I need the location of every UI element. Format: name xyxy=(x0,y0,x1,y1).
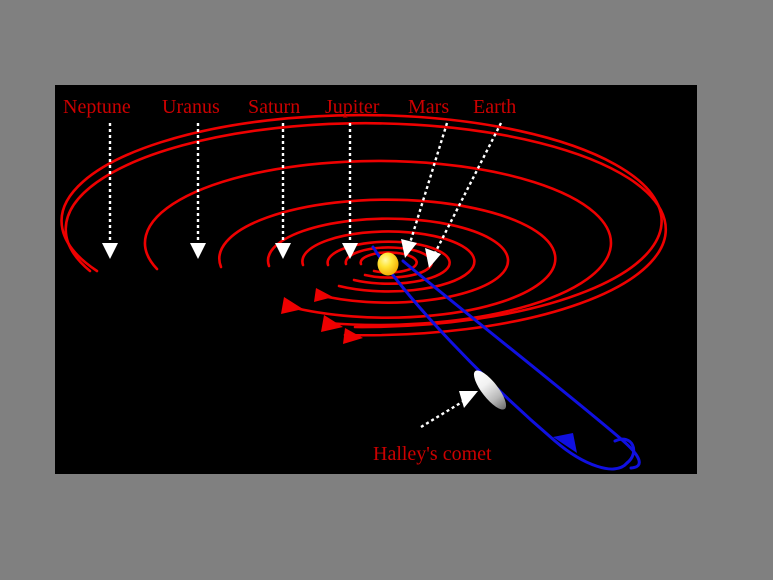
sun xyxy=(378,253,399,276)
halley-comet-body xyxy=(469,366,511,414)
pointer-neptune xyxy=(102,123,118,259)
label-halley-comet: Halley's comet xyxy=(373,443,492,465)
label-jupiter: Jupiter xyxy=(325,96,380,118)
label-mars: Mars xyxy=(408,96,449,118)
orbit-neptune xyxy=(62,115,666,344)
orbit-direction-arrow xyxy=(314,288,333,302)
orbit-direction-arrow xyxy=(281,297,303,314)
planet-orbits-group xyxy=(62,115,666,344)
label-saturn: Saturn xyxy=(248,96,300,118)
pointer-halley-comet xyxy=(421,391,478,427)
label-earth: Earth xyxy=(473,96,516,118)
pointer-saturn xyxy=(275,123,291,259)
pointer-jupiter xyxy=(342,123,358,259)
label-uranus: Uranus xyxy=(162,96,220,118)
halley-comet-orbit xyxy=(373,247,639,469)
diagram-svg: Neptune Uranus Saturn Jupiter Mars Earth… xyxy=(55,85,697,474)
planet-pointer-arrows-group xyxy=(102,123,501,427)
label-neptune: Neptune xyxy=(63,96,131,118)
page-canvas: Neptune Uranus Saturn Jupiter Mars Earth… xyxy=(0,0,773,580)
solar-system-diagram-panel: Neptune Uranus Saturn Jupiter Mars Earth… xyxy=(55,85,697,474)
planet-labels-group: Neptune Uranus Saturn Jupiter Mars Earth xyxy=(63,96,516,118)
